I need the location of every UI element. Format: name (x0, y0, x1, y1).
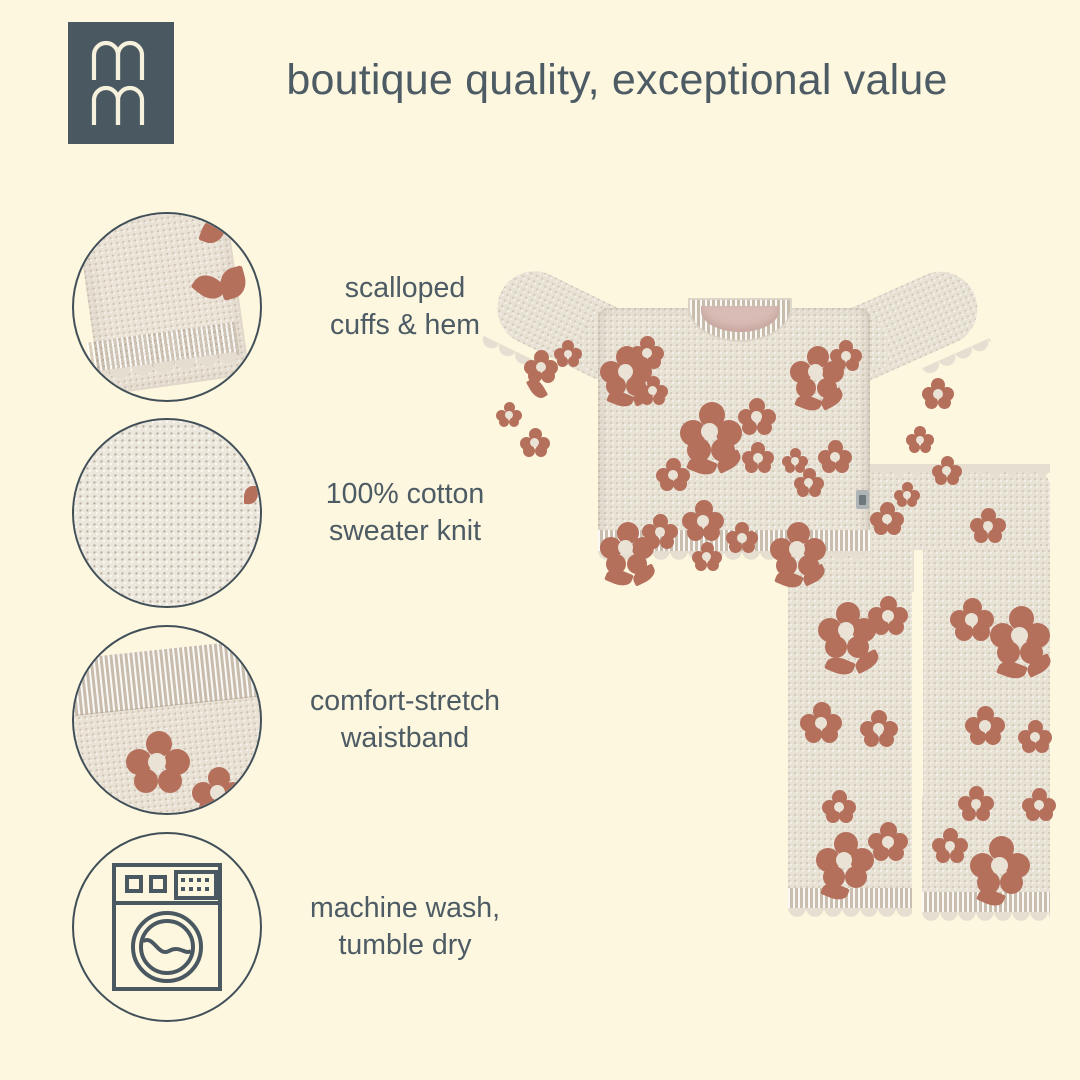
feature-photo-scalloped-cuff (72, 212, 262, 402)
washing-machine-icon (108, 861, 226, 993)
feature-photo-waistband (72, 625, 262, 815)
feature-icon-washing-machine (72, 832, 262, 1022)
page-headline: boutique quality, exceptional value (212, 44, 1022, 116)
flower-motif (192, 767, 244, 813)
brand-tag (856, 490, 869, 509)
product-photo-knit-set (470, 250, 1080, 970)
mm-monogram-logo (68, 22, 174, 144)
flower-motif (126, 731, 190, 795)
infographic-canvas: boutique quality, exceptional value scal… (0, 0, 1080, 1080)
feature-photo-knit-texture (72, 418, 262, 608)
